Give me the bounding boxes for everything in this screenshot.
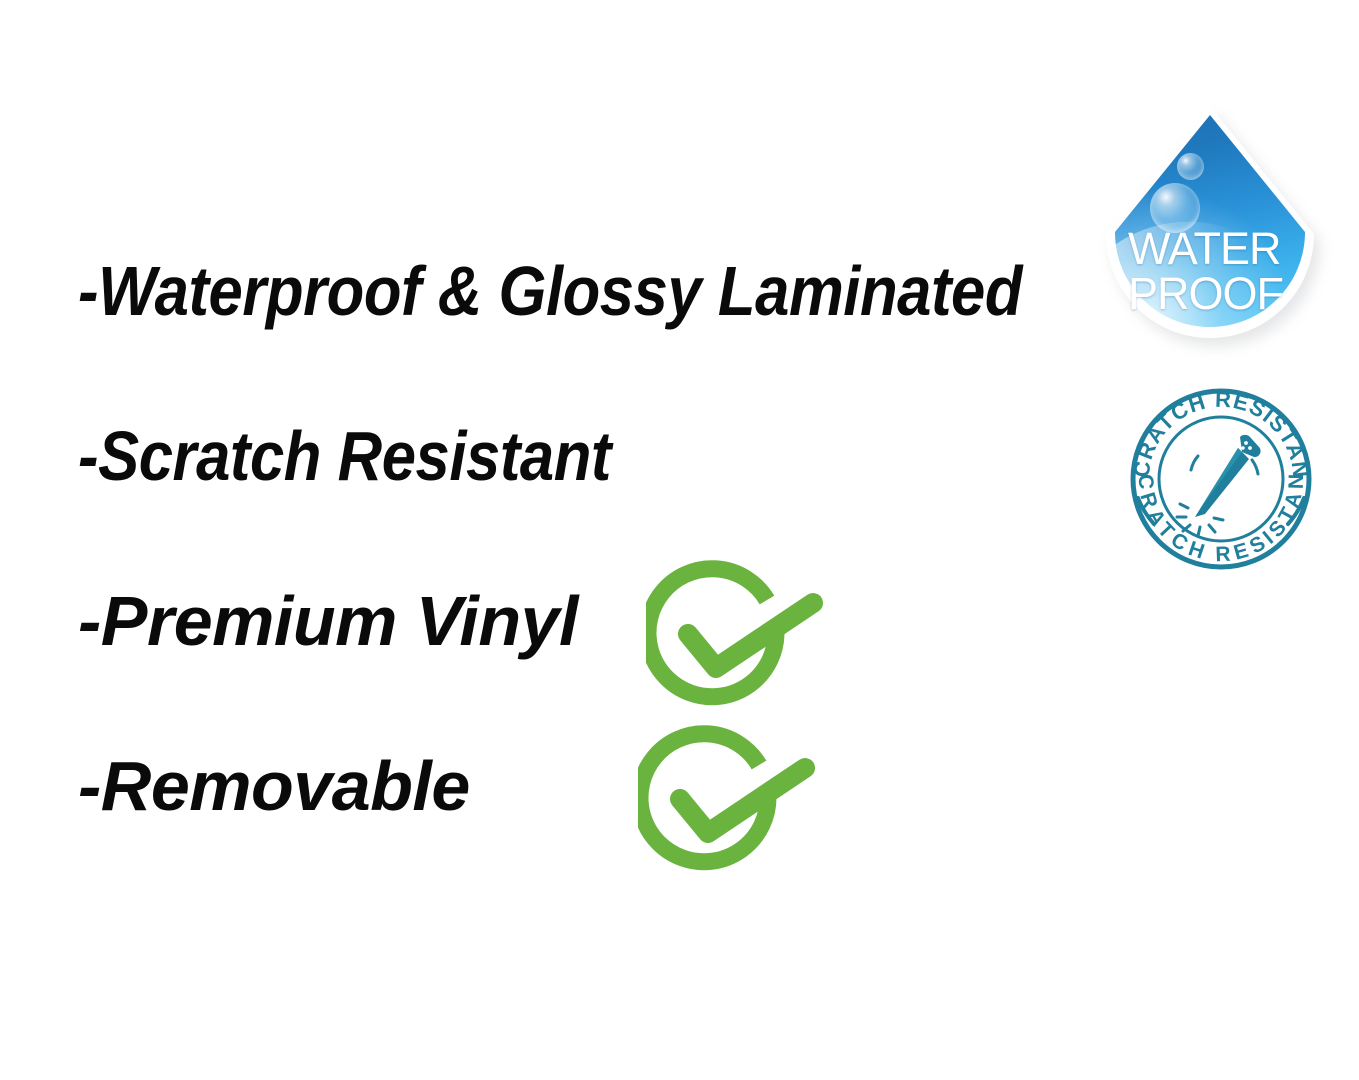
feature-item-scratch-resistant: -Scratch Resistant bbox=[78, 417, 1108, 582]
stamp-text-top: SCRATCH RESISTANT bbox=[1128, 386, 1313, 480]
feature-label-scratch-resistant: -Scratch Resistant bbox=[78, 417, 611, 495]
check-stroke bbox=[688, 603, 813, 668]
waterproof-badge-label: WATER PROOF bbox=[1128, 226, 1303, 316]
feature-list: -Waterproof & Glossy Laminated -Scratch … bbox=[78, 252, 1108, 912]
bubble-small-icon bbox=[1177, 153, 1204, 180]
feature-item-waterproof-glossy-laminated: -Waterproof & Glossy Laminated bbox=[78, 252, 1108, 417]
scratch-resistant-badge: SCRATCH RESISTANT SCRATCH RESISTANT bbox=[1128, 386, 1314, 572]
feature-item-premium-vinyl: -Premium Vinyl bbox=[78, 582, 1108, 747]
check-stroke bbox=[680, 768, 805, 833]
waterproof-label-line2: PROOF bbox=[1128, 271, 1303, 316]
stamp-tick-inner-left bbox=[1191, 456, 1198, 470]
feature-item-removable: -Removable bbox=[78, 747, 1108, 912]
waterproof-badge: WATER PROOF bbox=[1106, 106, 1314, 358]
feature-label-removable: -Removable bbox=[78, 747, 470, 825]
knife-icon bbox=[1177, 435, 1261, 536]
waterproof-label-line1: WATER bbox=[1128, 226, 1303, 271]
feature-label-waterproof-glossy-laminated: -Waterproof & Glossy Laminated bbox=[78, 252, 1022, 330]
stamp-tick-inner-right bbox=[1252, 460, 1258, 474]
check-circle-icon-removable bbox=[638, 723, 816, 878]
feature-label-premium-vinyl: -Premium Vinyl bbox=[78, 582, 578, 660]
check-circle-icon-premium-vinyl bbox=[646, 558, 824, 713]
